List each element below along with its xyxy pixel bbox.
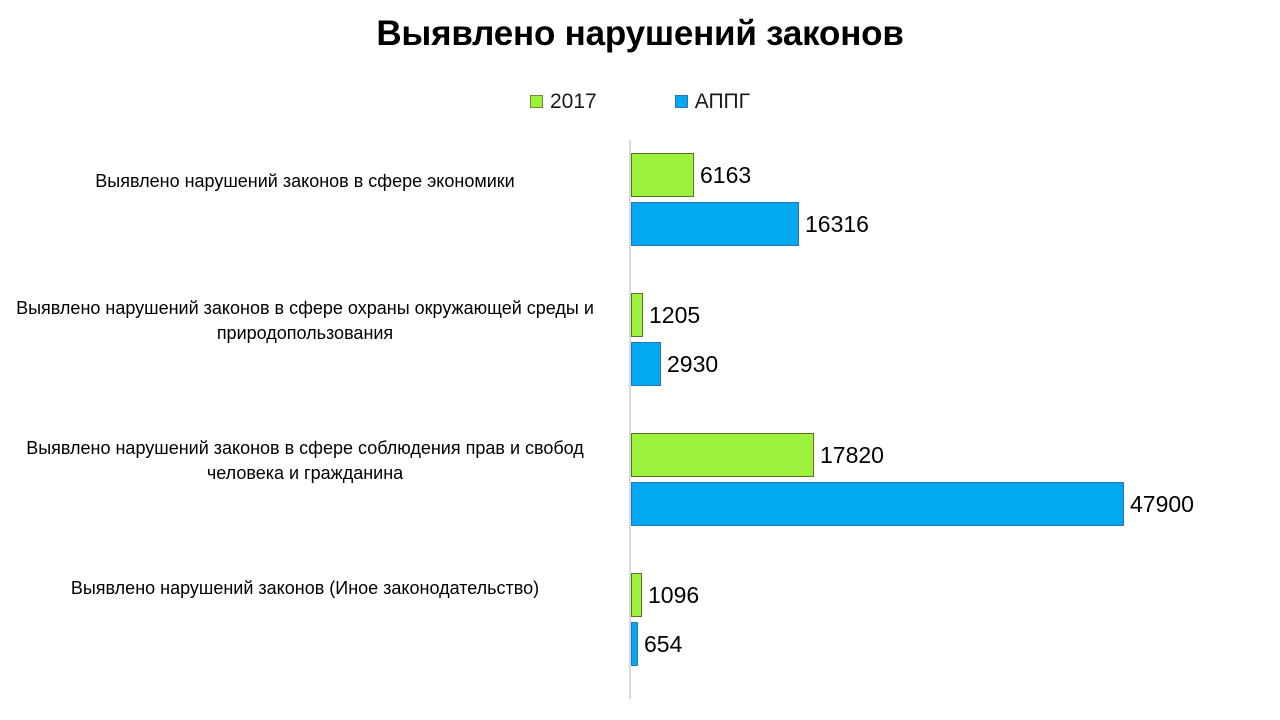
bar-row: 1096 [631,573,699,617]
bar-appg[interactable] [631,202,799,246]
bar-group: Выявлено нарушений законов (Иное законод… [0,558,1280,698]
bar-row: 6163 [631,153,751,197]
bar-value-label: 17820 [820,444,884,467]
category-label: Выявлено нарушений законов в сфере охран… [5,296,605,346]
bar-value-label: 16316 [805,213,869,236]
bar-2017[interactable] [631,153,694,197]
legend-label-appg: АППГ [695,91,750,112]
bar-value-label: 1096 [648,584,699,607]
bar-appg[interactable] [631,622,638,666]
bar-value-label: 6163 [700,164,751,187]
bar-value-label: 654 [644,633,682,656]
legend-swatch-icon-2017 [530,95,543,108]
chart-container: Выявлено нарушений законов 2017 АППГ Выя… [0,0,1280,720]
plot-area: Выявлено нарушений законов в сфере эконо… [0,138,1280,700]
bar-group: Выявлено нарушений законов в сфере охран… [0,278,1280,418]
bar-group: Выявлено нарушений законов в сфере эконо… [0,138,1280,278]
bar-row: 654 [631,622,682,666]
bar-value-label: 47900 [1130,493,1194,516]
category-label: Выявлено нарушений законов (Иное законод… [5,576,605,601]
chart-legend: 2017 АППГ [0,91,1280,112]
bar-row: 17820 [631,433,884,477]
legend-swatch-icon-appg [675,95,688,108]
bar-value-label: 2930 [667,353,718,376]
bar-value-label: 1205 [649,304,700,327]
bar-appg[interactable] [631,482,1124,526]
bar-row: 1205 [631,293,700,337]
bar-2017[interactable] [631,573,642,617]
category-label: Выявлено нарушений законов в сфере эконо… [5,169,605,194]
bar-row: 16316 [631,202,869,246]
legend-item-2017[interactable]: 2017 [530,91,597,112]
bar-row: 2930 [631,342,718,386]
bar-appg[interactable] [631,342,661,386]
legend-label-2017: 2017 [550,91,597,112]
bar-2017[interactable] [631,293,643,337]
legend-item-appg[interactable]: АППГ [675,91,750,112]
category-label: Выявлено нарушений законов в сфере соблю… [5,436,605,486]
bar-group: Выявлено нарушений законов в сфере соблю… [0,418,1280,558]
bar-row: 47900 [631,482,1194,526]
chart-title: Выявлено нарушений законов [0,14,1280,54]
bar-2017[interactable] [631,433,814,477]
